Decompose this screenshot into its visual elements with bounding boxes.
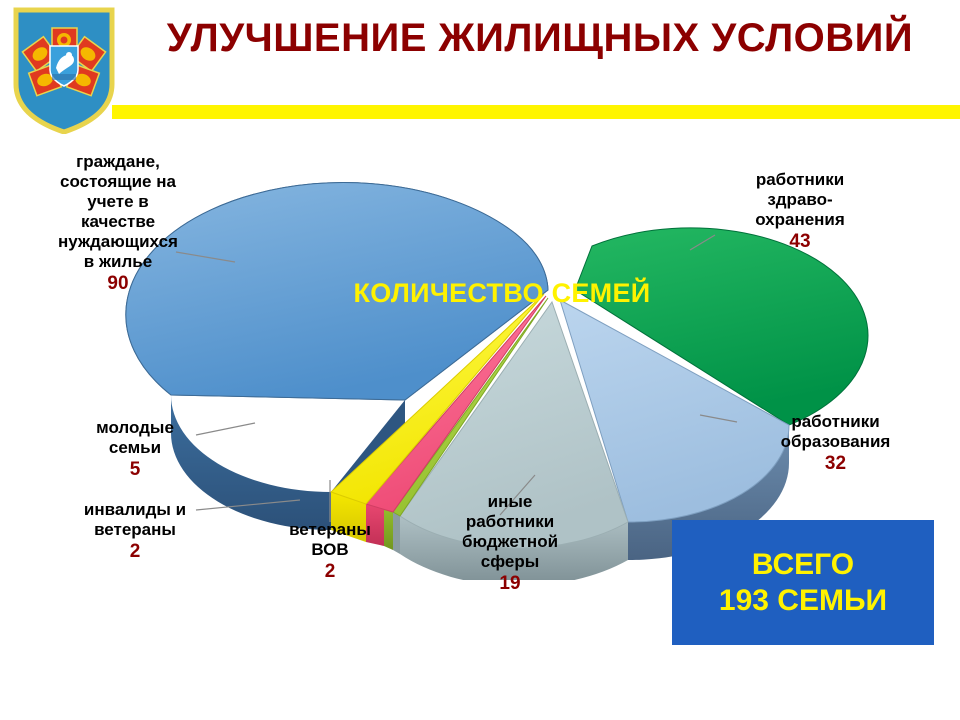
label-line: в жилье — [84, 252, 152, 271]
label-line: работники — [756, 170, 844, 189]
label-value: 2 — [40, 541, 230, 563]
label-value: 19 — [430, 573, 590, 595]
label-line: работники — [466, 512, 554, 531]
label-disabled-and-veterans: инвалиды и ветераны 2 — [40, 500, 230, 563]
chart-center-label: КОЛИЧЕСТВО СЕМЕЙ — [332, 278, 672, 309]
total-label: ВСЕГО — [752, 547, 854, 583]
page-title: УЛУЧШЕНИЕ ЖИЛИЩНЫХ УСЛОВИЙ — [140, 16, 940, 60]
label-line: иные — [488, 492, 533, 511]
label-line: инвалиды и — [84, 500, 186, 519]
label-value: 5 — [50, 459, 220, 481]
label-line: нуждающихся — [58, 232, 178, 251]
label-line: охранения — [755, 210, 845, 229]
label-line: здраво- — [767, 190, 832, 209]
label-value: 43 — [700, 231, 900, 253]
label-healthcare-workers: работники здраво- охранения 43 — [700, 170, 900, 253]
accent-bar — [112, 105, 960, 119]
label-line: образования — [781, 432, 891, 451]
label-citizens-in-need: граждане, состоящие на учете в качестве … — [18, 152, 218, 295]
label-line: ветераны — [94, 520, 176, 539]
label-other-budget-workers: иные работники бюджетной сферы 19 — [430, 492, 590, 595]
label-wwii-veterans: ветераны ВОВ 2 — [255, 520, 405, 583]
label-line: ВОВ — [311, 540, 348, 559]
label-line: семьи — [109, 438, 161, 457]
label-line: молодые — [96, 418, 174, 437]
label-line: ветераны — [289, 520, 371, 539]
label-value: 2 — [255, 561, 405, 583]
total-families-box: ВСЕГО 193 СЕМЬИ — [672, 520, 934, 645]
label-line: состоящие на — [60, 172, 176, 191]
total-value: 193 СЕМЬИ — [719, 583, 887, 619]
coat-of-arms-emblem — [12, 6, 116, 134]
label-line: учете в — [87, 192, 149, 211]
label-education-workers: работники образования 32 — [728, 412, 943, 475]
label-line: сферы — [481, 552, 539, 571]
label-line: граждане, — [76, 152, 160, 171]
label-value: 32 — [728, 453, 943, 475]
label-value: 90 — [18, 273, 218, 295]
label-line: бюджетной — [462, 532, 558, 551]
label-line: работники — [791, 412, 879, 431]
label-young-families: молодые семьи 5 — [50, 418, 220, 481]
label-line: качестве — [81, 212, 155, 231]
